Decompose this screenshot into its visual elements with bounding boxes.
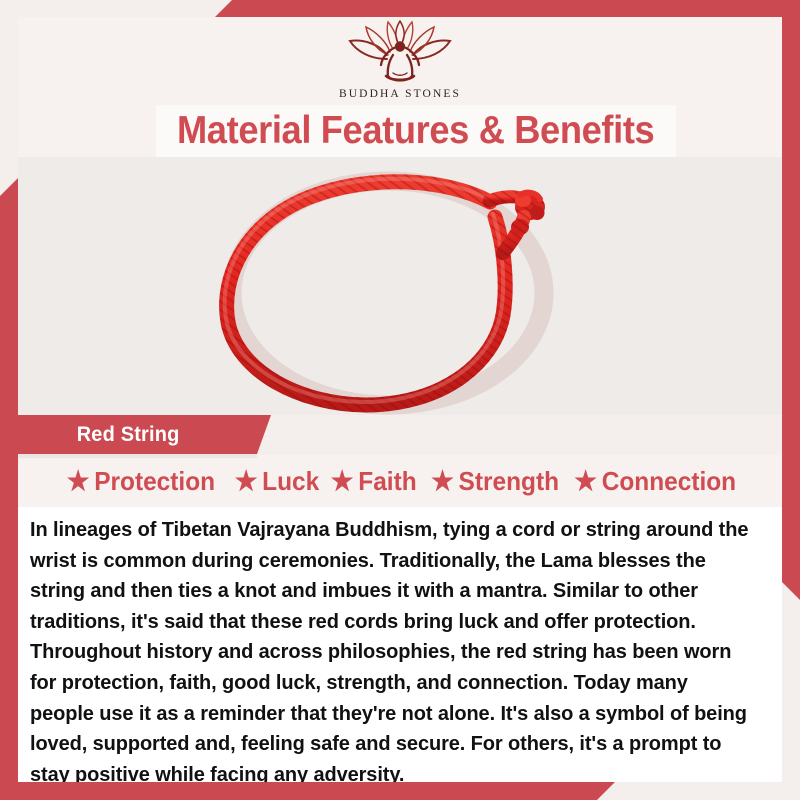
title-banner: Material Features & Benefits [156,105,676,157]
star-icon: ★ [235,468,258,495]
feature-faith: ★ Faith [331,466,419,497]
red-string-bracelet-image [190,165,610,415]
brand-logo: BUDDHA STONES [18,19,782,100]
feature-label: Protection [95,466,216,497]
feature-label: Connection [602,466,736,497]
decorative-top-bar [215,0,800,17]
brand-name: BUDDHA STONES [339,88,461,100]
label-banner-shadow [18,454,257,458]
feature-strength: ★ Strength [426,466,565,497]
description-section: In lineages of Tibetan Vajrayana Buddhis… [18,507,782,782]
product-image-area [18,157,782,415]
star-icon: ★ [331,468,354,495]
header-section: BUDDHA STONES Material Features & Benefi… [18,17,782,157]
infographic-card: BUDDHA STONES Material Features & Benefi… [0,0,800,800]
feature-luck: ★ Luck [229,466,325,497]
feature-protection: ★ Protection [61,466,221,497]
material-label-banner: Red String [18,415,271,454]
star-icon: ★ [67,468,90,495]
decorative-right-bar [782,0,800,600]
material-label-text: Red String [77,423,180,447]
feature-label: Faith [358,466,416,497]
features-strip: ★ Protection ★ Luck ★ Faith ★ Strength ★… [18,455,782,507]
page-title: Material Features & Benefits [177,109,654,153]
star-icon: ★ [431,468,454,495]
decorative-left-bar [0,178,18,800]
star-icon: ★ [575,468,598,495]
feature-connection: ★ Connection [575,466,739,497]
feature-label: Luck [262,466,319,497]
feature-label: Strength [459,466,559,497]
description-text: In lineages of Tibetan Vajrayana Buddhis… [30,515,749,790]
lotus-meditation-icon [341,19,459,87]
decorative-bottom-bar [0,782,615,800]
